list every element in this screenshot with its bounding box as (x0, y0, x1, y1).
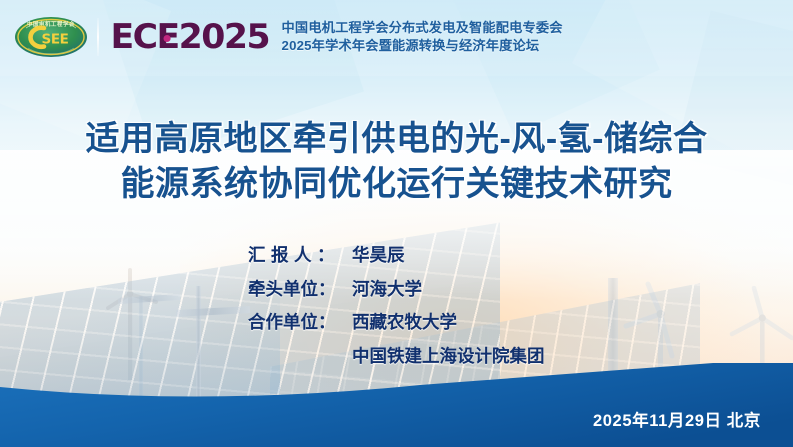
svg-text:SEE: SEE (42, 32, 69, 48)
footer-banner: 2025年11月29日 北京 (0, 363, 793, 447)
info-label: 汇报人： (248, 247, 352, 265)
info-label: 合作单位： (248, 314, 352, 332)
title-line-1: 适用高原地区牵引供电的光-风-氢-储综合 (0, 117, 793, 162)
info-row: 汇报人： 华昊辰 (248, 247, 545, 265)
page-title: 适用高原地区牵引供电的光-风-氢-储综合 能源系统协同优化运行关键技术研究 (0, 117, 793, 207)
conference-line-2: 2025年学术年会暨能源转换与经济年度论坛 (282, 37, 563, 55)
header: 中国电机工程学会 SEE ECE2025 中国电机工程学会分布式发电及智能配电专… (14, 13, 563, 61)
svg-text:中国电机工程学会: 中国电机工程学会 (27, 20, 75, 28)
conference-name: 中国电机工程学会分布式发电及智能配电专委会 2025年学术年会暨能源转换与经济年… (282, 19, 563, 54)
info-row: 牵头单位： 河海大学 (248, 281, 545, 299)
info-value: 西藏农牧大学 (352, 314, 457, 332)
info-row: 合作单位： 西藏农牧大学 (248, 314, 545, 332)
presentation-title-slide: 中国电机工程学会 SEE ECE2025 中国电机工程学会分布式发电及智能配电专… (0, 0, 793, 447)
presenter-info: 汇报人： 华昊辰 牵头单位： 河海大学 合作单位： 西藏农牧大学 合作单位： 中… (248, 247, 545, 381)
ece-logo-dot-icon (163, 35, 170, 42)
ece-event-logo: ECE2025 (110, 20, 269, 54)
header-divider (97, 18, 99, 56)
see-society-logo: 中国电机工程学会 SEE (14, 15, 88, 59)
conference-line-1: 中国电机工程学会分布式发电及智能配电专委会 (282, 19, 563, 37)
info-label: 牵头单位： (248, 281, 352, 299)
ece-logo-text: ECE2025 (110, 17, 269, 57)
info-value: 河海大学 (352, 281, 422, 299)
title-line-2: 能源系统协同优化运行关键技术研究 (0, 162, 793, 207)
date-location-label: 2025年11月29日 北京 (593, 407, 761, 431)
info-value: 华昊辰 (352, 247, 405, 265)
